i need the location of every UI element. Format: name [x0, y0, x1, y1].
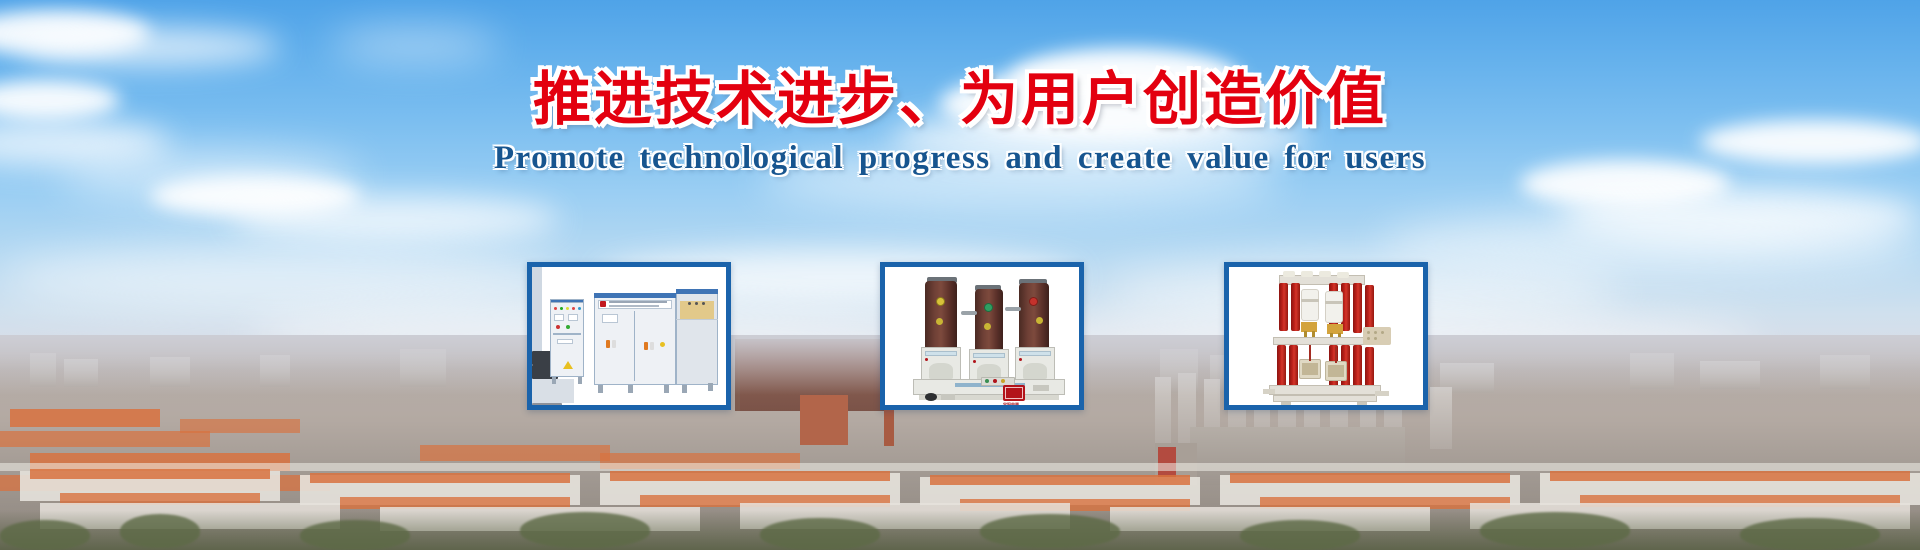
manufacturer-logo-text: 宝阳电器: [1003, 402, 1019, 408]
product-panel-switchgear[interactable]: [527, 262, 731, 410]
product-image-switchgear: [532, 267, 726, 405]
product-panel-red-contactor[interactable]: [1224, 262, 1428, 410]
subtitle-english: Promote technological progress and creat…: [0, 140, 1920, 177]
headline-chinese: 推进技术进步、为用户创造价值: [0, 52, 1920, 136]
product-panel-vacuum-contactor[interactable]: 宝阳电器: [880, 262, 1084, 410]
tree-band: [0, 510, 1920, 550]
product-image-vacuum-contactor: 宝阳电器: [885, 267, 1079, 405]
promo-banner: 推进技术进步、为用户创造价值 Promote technological pro…: [0, 0, 1920, 550]
product-image-red-contactor: [1229, 267, 1423, 405]
manufacturer-logo: [1003, 385, 1025, 401]
